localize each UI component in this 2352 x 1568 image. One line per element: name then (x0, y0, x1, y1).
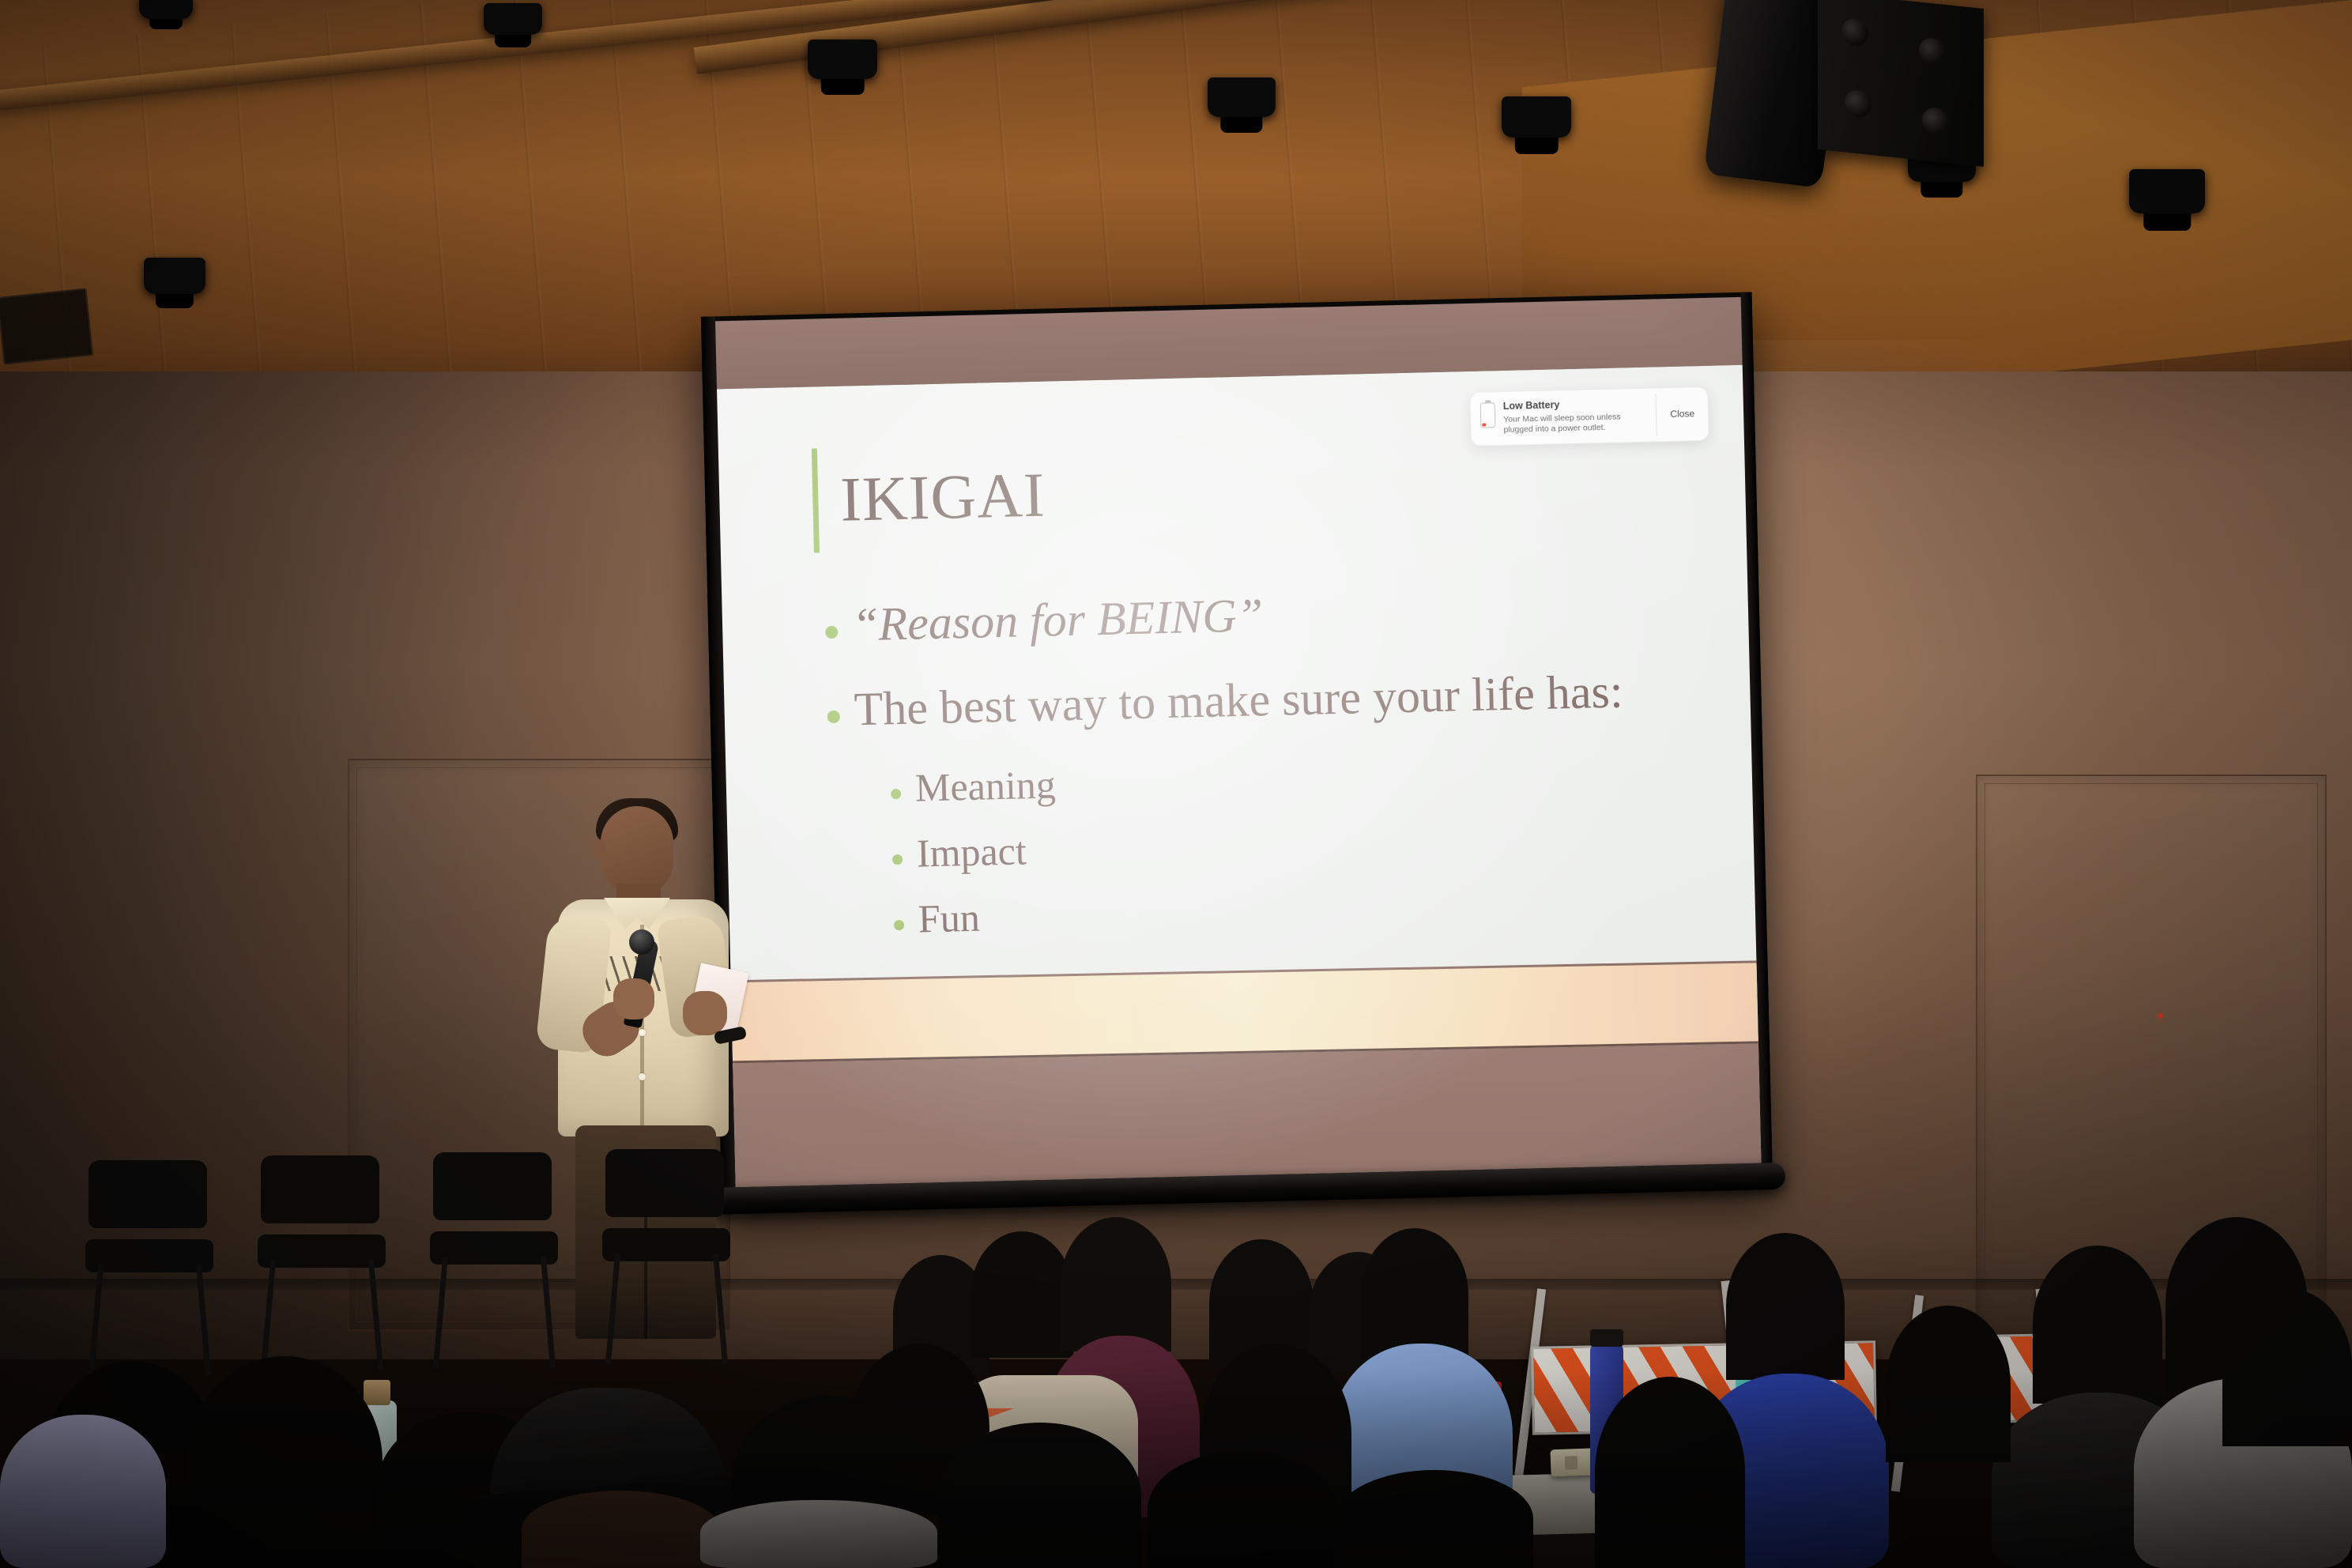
presenter-left-hand (613, 978, 654, 1020)
track-light (1502, 96, 1571, 138)
list-item: The best way to make sure your life has: (827, 664, 1703, 736)
slide-decor-band-brown (717, 1041, 1761, 1187)
audience-head (1361, 1228, 1468, 1361)
track-light (2129, 169, 2205, 213)
audience-head (2033, 1246, 2162, 1404)
slide-title-row: IKIGAI (812, 443, 1046, 553)
audience-head (1336, 1470, 1533, 1568)
notification-title: Low Battery (1503, 398, 1650, 413)
audience-head (1726, 1233, 1845, 1380)
bullet-text: Fun (918, 896, 980, 940)
close-button[interactable]: Close (1657, 387, 1709, 441)
track-light (144, 258, 205, 294)
wall-baseboard-trim (0, 1279, 2352, 1290)
audience-head (187, 1356, 383, 1568)
audience-torso (700, 1500, 937, 1568)
bullet-dot-icon (827, 710, 840, 723)
presenter-head (601, 806, 673, 895)
audience-head (1886, 1306, 2011, 1462)
notification-text-block: Low Battery Your Mac will sleep soon unl… (1503, 398, 1650, 436)
audience-torso (0, 1415, 166, 1568)
audience-head (1595, 1377, 1745, 1568)
bullet-dot-icon (892, 854, 903, 865)
ceiling-vent (0, 288, 93, 364)
audience-head (2222, 1288, 2352, 1446)
track-light (484, 3, 542, 35)
list-item: Impact (891, 814, 1706, 875)
shirt-button (639, 1073, 646, 1080)
projection-screen: IKIGAI “Reason for BEING” The best way t… (701, 292, 1773, 1209)
track-light (1208, 77, 1276, 117)
speaker-cabinet (1818, 0, 1984, 167)
shirt-button (639, 1029, 646, 1036)
audience-head (522, 1491, 719, 1568)
bullet-text: The best way to make sure your life has: (854, 665, 1623, 735)
page-title: IKIGAI (839, 464, 1046, 532)
presenter-ear (593, 839, 605, 858)
bullet-text: “Reason for BEING” (851, 590, 1263, 650)
auditorium-scene: IKIGAI “Reason for BEING” The best way t… (0, 0, 2352, 1568)
bullet-text: Meaning (914, 763, 1056, 808)
audience-head (939, 1423, 1141, 1568)
title-accent-bar (812, 448, 820, 552)
list-item: Fun (893, 880, 1708, 940)
slide-bullet-list: “Reason for BEING” The best way to make … (824, 579, 1709, 966)
bullet-dot-icon (825, 626, 838, 639)
notification-body: Your Mac will sleep soon unless plugged … (1503, 411, 1650, 435)
door-indicator-light (2158, 1014, 2162, 1018)
bottle-cap (364, 1380, 390, 1405)
bullet-dot-icon (894, 920, 904, 930)
low-battery-notification[interactable]: Low Battery Your Mac will sleep soon unl… (1469, 386, 1709, 447)
presenter-right-hand (683, 991, 727, 1035)
list-item: Meaning (890, 748, 1705, 809)
list-item: “Reason for BEING” (824, 579, 1701, 651)
bullet-text: Impact (916, 830, 1027, 874)
audience-head (1148, 1451, 1337, 1568)
slide-sub-bullet-list: Meaning Impact Fun (890, 748, 1708, 940)
presentation-slide: IKIGAI “Reason for BEING” The best way t… (717, 365, 1761, 1187)
battery-low-icon (1480, 402, 1496, 428)
bullet-dot-icon (891, 789, 901, 799)
bottle-cap (1590, 1329, 1623, 1347)
track-light (808, 40, 877, 79)
audience-head (971, 1231, 1073, 1358)
track-light (139, 0, 193, 19)
notification-content: Low Battery Your Mac will sleep soon unl… (1470, 388, 1657, 445)
audience-head (1061, 1217, 1171, 1351)
battery-fill (1483, 423, 1487, 426)
presenter (531, 798, 768, 1344)
